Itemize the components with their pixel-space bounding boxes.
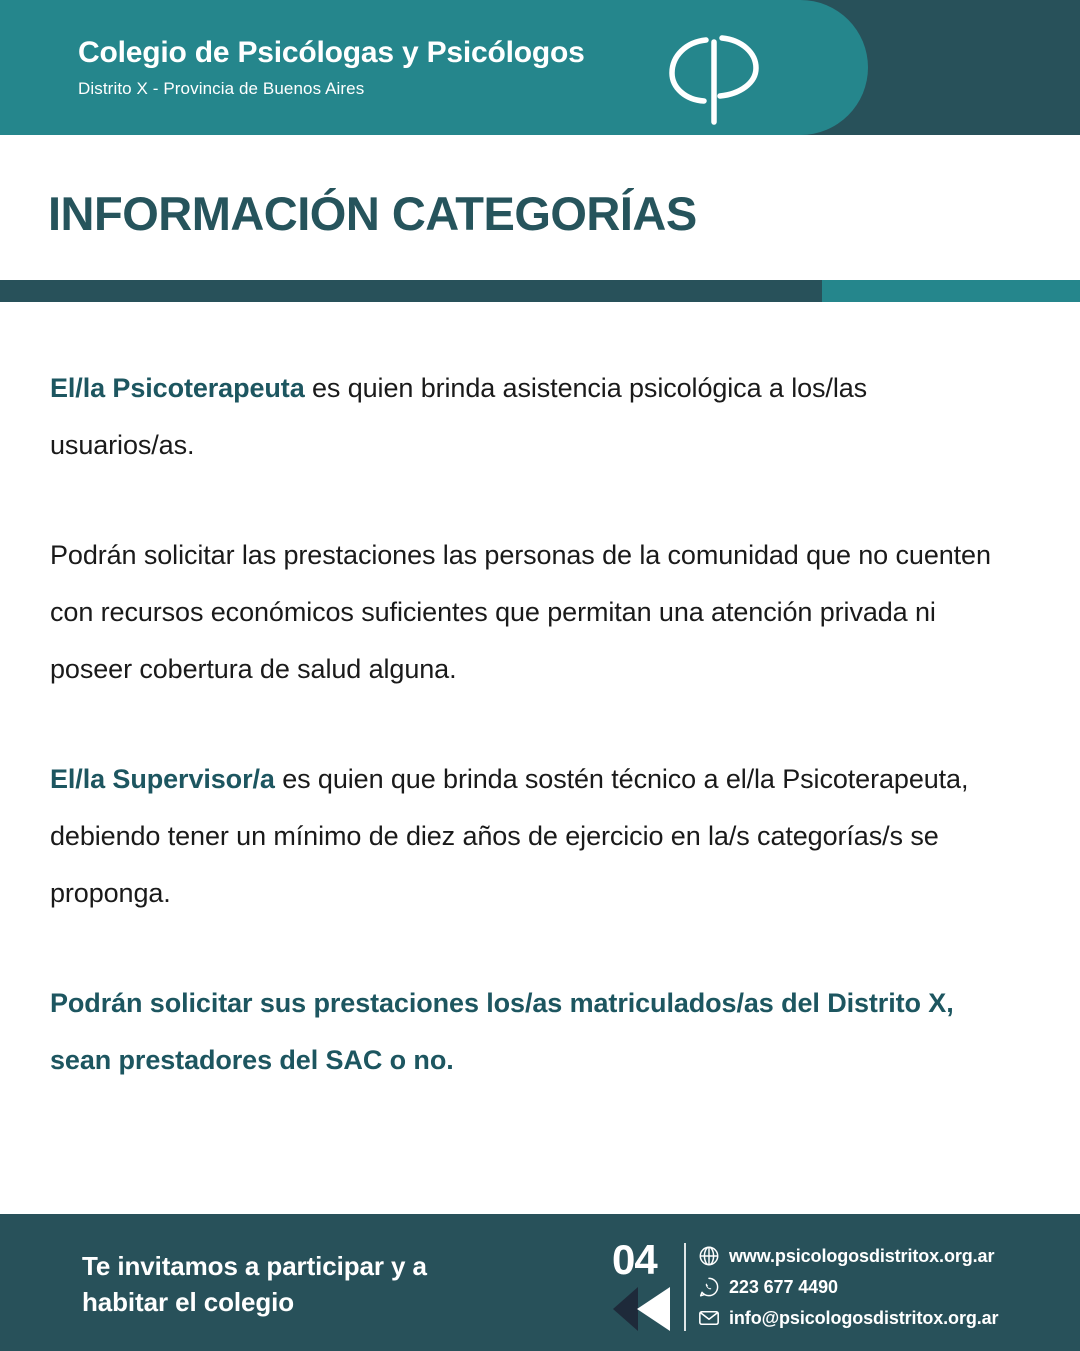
organization-subtitle: Distrito X - Provincia de Buenos Aires [78, 79, 585, 99]
slide-page: Colegio de Psicólogas y Psicólogos Distr… [0, 0, 1080, 1351]
divider-light-segment [822, 280, 1080, 302]
paragraph-psicoterapeuta: El/la Psicoterapeuta es quien brinda asi… [50, 360, 1010, 474]
page-title: INFORMACIÓN CATEGORÍAS [48, 186, 697, 241]
body-content: El/la Psicoterapeuta es quien brinda asi… [50, 360, 1010, 1089]
cp-monogram-logo [660, 18, 770, 128]
footer-page-block: 04 [612, 1238, 680, 1338]
envelope-icon [698, 1307, 720, 1329]
paragraph-rest-matriculados: Podrán solicitar sus prestaciones los/as… [50, 988, 954, 1075]
contact-email-text: info@psicologosdistritox.org.ar [729, 1308, 998, 1329]
footer-slogan-line-1: Te invitamos a participar y a [82, 1248, 427, 1284]
contact-phone-text: 223 677 4490 [729, 1277, 838, 1298]
footer-slogan: Te invitamos a participar y a habitar el… [82, 1248, 427, 1320]
page-number: 04 [612, 1238, 680, 1282]
footer-vertical-rule [684, 1243, 686, 1331]
contact-website-text: www.psicologosdistritox.org.ar [729, 1246, 994, 1267]
paragraph-lead-psicoterapeuta: El/la Psicoterapeuta [50, 373, 305, 403]
organization-name: Colegio de Psicólogas y Psicólogos [78, 36, 585, 71]
paragraph-matriculados: Podrán solicitar sus prestaciones los/as… [50, 975, 1010, 1089]
divider-dark-segment [0, 280, 822, 302]
contact-row-email[interactable]: info@psicologosdistritox.org.ar [698, 1303, 998, 1333]
paragraph-rest-prestaciones-comunidad: Podrán solicitar las prestaciones las pe… [50, 540, 991, 684]
contact-row-website[interactable]: www.psicologosdistritox.org.ar [698, 1241, 998, 1271]
footer-contact-list: www.psicologosdistritox.org.ar 223 677 4… [698, 1241, 998, 1334]
paragraph-prestaciones-comunidad: Podrán solicitar las prestaciones las pe… [50, 527, 1010, 698]
globe-icon [698, 1245, 720, 1267]
paragraph-lead-supervisor: El/la Supervisor/a [50, 764, 275, 794]
paragraph-supervisor: El/la Supervisor/a es quien que brinda s… [50, 751, 1010, 922]
footer-slogan-line-2: habitar el colegio [82, 1284, 427, 1320]
page-header: Colegio de Psicólogas y Psicólogos Distr… [0, 0, 1080, 135]
whatsapp-icon [698, 1276, 720, 1298]
contact-row-whatsapp[interactable]: 223 677 4490 [698, 1272, 998, 1302]
section-divider-bar [0, 280, 1080, 302]
header-text-block: Colegio de Psicólogas y Psicólogos Distr… [78, 36, 585, 99]
double-left-triangle-icon [612, 1286, 674, 1332]
